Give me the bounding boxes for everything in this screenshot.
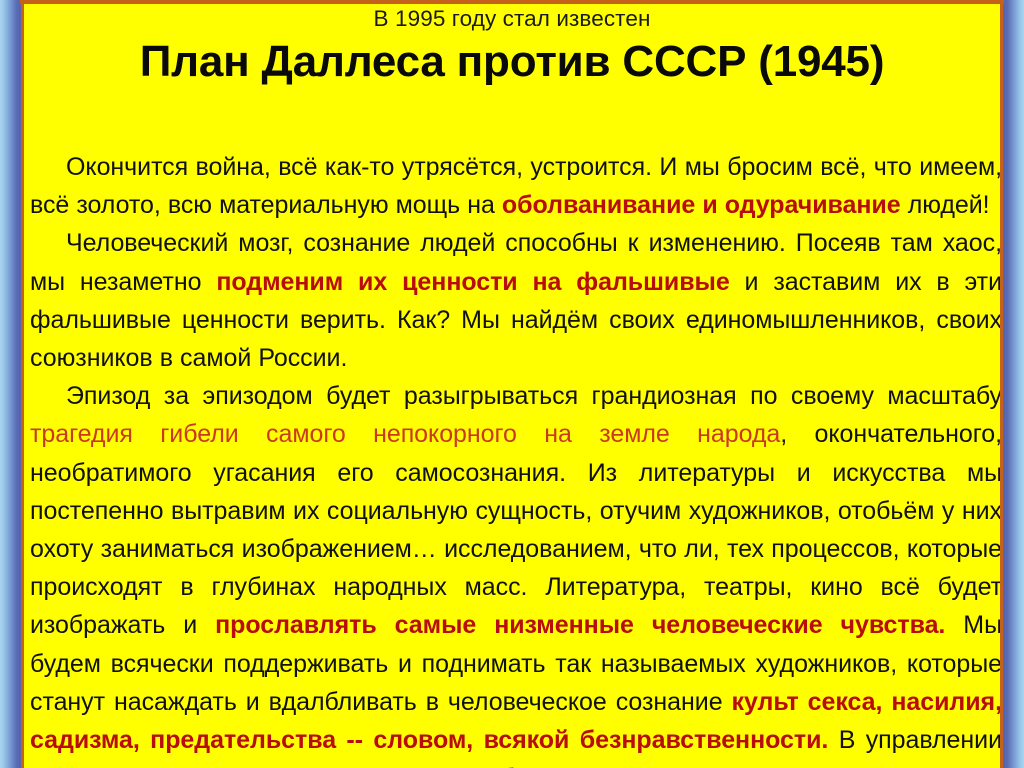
- paragraph-2: Человеческий мозг, сознание людей способ…: [30, 224, 1002, 377]
- paragraph-1: Окончится война, всё как-то утрясётся, у…: [30, 148, 1002, 224]
- right-edge-decoration: [1002, 0, 1024, 768]
- text-run: Эпизод за эпизодом будет разыгрываться г…: [66, 382, 1002, 410]
- text-run: хаос: [354, 764, 406, 768]
- text-run: и: [406, 764, 434, 768]
- title-block: В 1995 году стал известен План Даллеса п…: [24, 4, 1000, 90]
- left-edge-decoration: [0, 0, 22, 768]
- slide-main-title: План Даллеса против СССР (1945): [24, 34, 1000, 90]
- left-edge-accent-line: [21, 0, 24, 768]
- slide-kicker: В 1995 году стал известен: [24, 4, 1000, 34]
- text-run: подменим их ценности на фальшивые: [216, 268, 729, 296]
- text-run: , окончательного, необратимого угасания …: [30, 420, 1002, 639]
- slide-body: Окончится война, всё как-то утрясётся, у…: [30, 148, 1002, 768]
- top-edge-accent-line: [20, 0, 1004, 4]
- slide-canvas: В 1995 году стал известен План Даллеса п…: [0, 0, 1024, 768]
- text-run: трагедия гибели самого непокорного на зе…: [30, 420, 780, 448]
- paragraph-3: Эпизод за эпизодом будет разыгрываться г…: [30, 377, 1002, 768]
- text-run: неразбериху.: [434, 764, 585, 768]
- text-run: прославлять самые низменные человеческие…: [215, 611, 945, 639]
- text-run: оболванивание и одурачивание: [502, 191, 901, 219]
- text-run: людей!: [901, 191, 990, 219]
- right-edge-accent-line: [1000, 0, 1003, 768]
